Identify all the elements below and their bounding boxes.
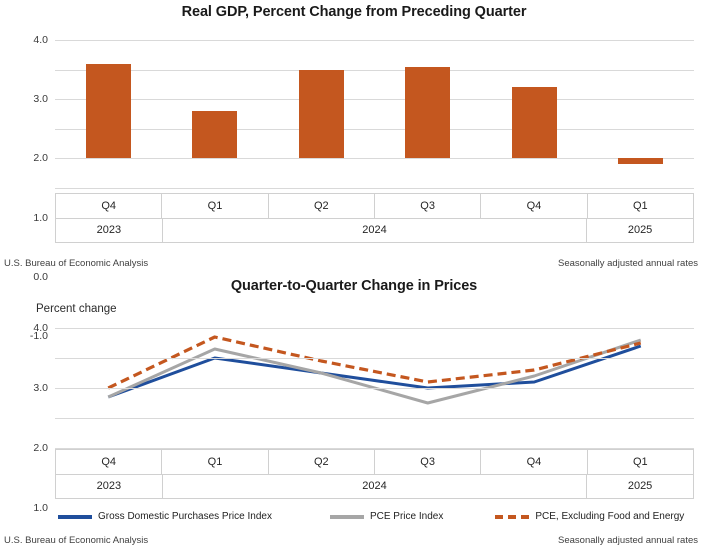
legend-label: Gross Domestic Purchases Price Index [98,511,272,522]
quarter-label: Q4 [56,450,162,474]
bar [299,70,344,159]
gridline: 1.0 [55,418,694,419]
legend-label: PCE Price Index [370,511,443,522]
gridline: 0.0 [55,158,694,159]
quarter-label: Q4 [56,194,162,218]
y-axis-tick: 2.0 [33,442,55,454]
quarter-label: Q1 [162,450,268,474]
chart2-axis-note: Percent change [36,303,117,315]
quarter-label: Q2 [269,450,375,474]
gridline: 3.0 [55,70,694,71]
quarter-label: Q4 [481,194,587,218]
chart1-year-row: 202320242025 [56,219,693,243]
chart2-plot-area: 4.03.02.01.00.0 [55,328,694,448]
gridline: 3.0 [55,358,694,359]
gridline: 4.0 [55,40,694,41]
gridline: 2.0 [55,388,694,389]
gridline: -1.0 [55,188,694,189]
chart1-rate-note: Seasonally adjusted annual rates [558,258,698,269]
y-axis-tick: 2.0 [33,152,55,164]
chart2-year-row: 202320242025 [56,475,693,499]
quarter-label: Q1 [162,194,268,218]
chart1-quarter-row: Q4Q1Q2Q3Q4Q1 [56,194,693,219]
y-axis-tick: 3.0 [33,382,55,394]
legend-swatch-icon [58,515,92,519]
bar [86,64,131,159]
legend-item: PCE, Excluding Food and Energy [495,511,684,522]
y-axis-tick: 4.0 [33,34,55,46]
chart2-quarter-row: Q4Q1Q2Q3Q4Q1 [56,450,693,475]
chart2-title: Quarter-to-Quarter Change in Prices [0,278,708,294]
year-label: 2025 [587,219,693,243]
legend-swatch-icon [330,515,364,519]
quarter-label: Q1 [588,194,693,218]
year-label: 2024 [163,219,587,243]
quarter-label: Q4 [481,450,587,474]
chart2-rate-note: Seasonally adjusted annual rates [558,535,698,546]
chart2-category-axis: Q4Q1Q2Q3Q4Q1 202320242025 [55,449,694,499]
year-label: 2025 [587,475,693,499]
chart2-legend: Gross Domestic Purchases Price IndexPCE … [58,511,698,522]
gridline: 2.0 [55,99,694,100]
bar [405,67,450,159]
chart1-category-axis: Q4Q1Q2Q3Q4Q1 202320242025 [55,193,694,243]
legend-swatch-icon [495,515,529,519]
y-axis-tick: 3.0 [33,93,55,105]
y-axis-tick: 1.0 [33,212,55,224]
legend-item: PCE Price Index [330,511,443,522]
y-axis-tick: 4.0 [33,322,55,334]
bar [618,158,663,164]
bar [512,87,557,158]
quarter-label: Q2 [269,194,375,218]
chart1-source-note: U.S. Bureau of Economic Analysis [4,258,148,269]
gridline: 4.0 [55,328,694,329]
bea-charts-page: Real GDP, Percent Change from Preceding … [0,0,708,549]
legend-item: Gross Domestic Purchases Price Index [58,511,272,522]
chart2-source-note: U.S. Bureau of Economic Analysis [4,535,148,546]
quarter-label: Q3 [375,450,481,474]
year-label: 2023 [56,475,163,499]
bar [192,111,237,158]
chart1-title: Real GDP, Percent Change from Preceding … [0,4,708,20]
y-axis-tick: 1.0 [33,502,55,514]
quarter-label: Q3 [375,194,481,218]
legend-label: PCE, Excluding Food and Energy [535,511,684,522]
year-label: 2024 [163,475,587,499]
chart1-plot-area: 4.03.02.01.00.0-1.0 [55,40,694,188]
year-label: 2023 [56,219,163,243]
gridline: 1.0 [55,129,694,130]
quarter-label: Q1 [588,450,693,474]
